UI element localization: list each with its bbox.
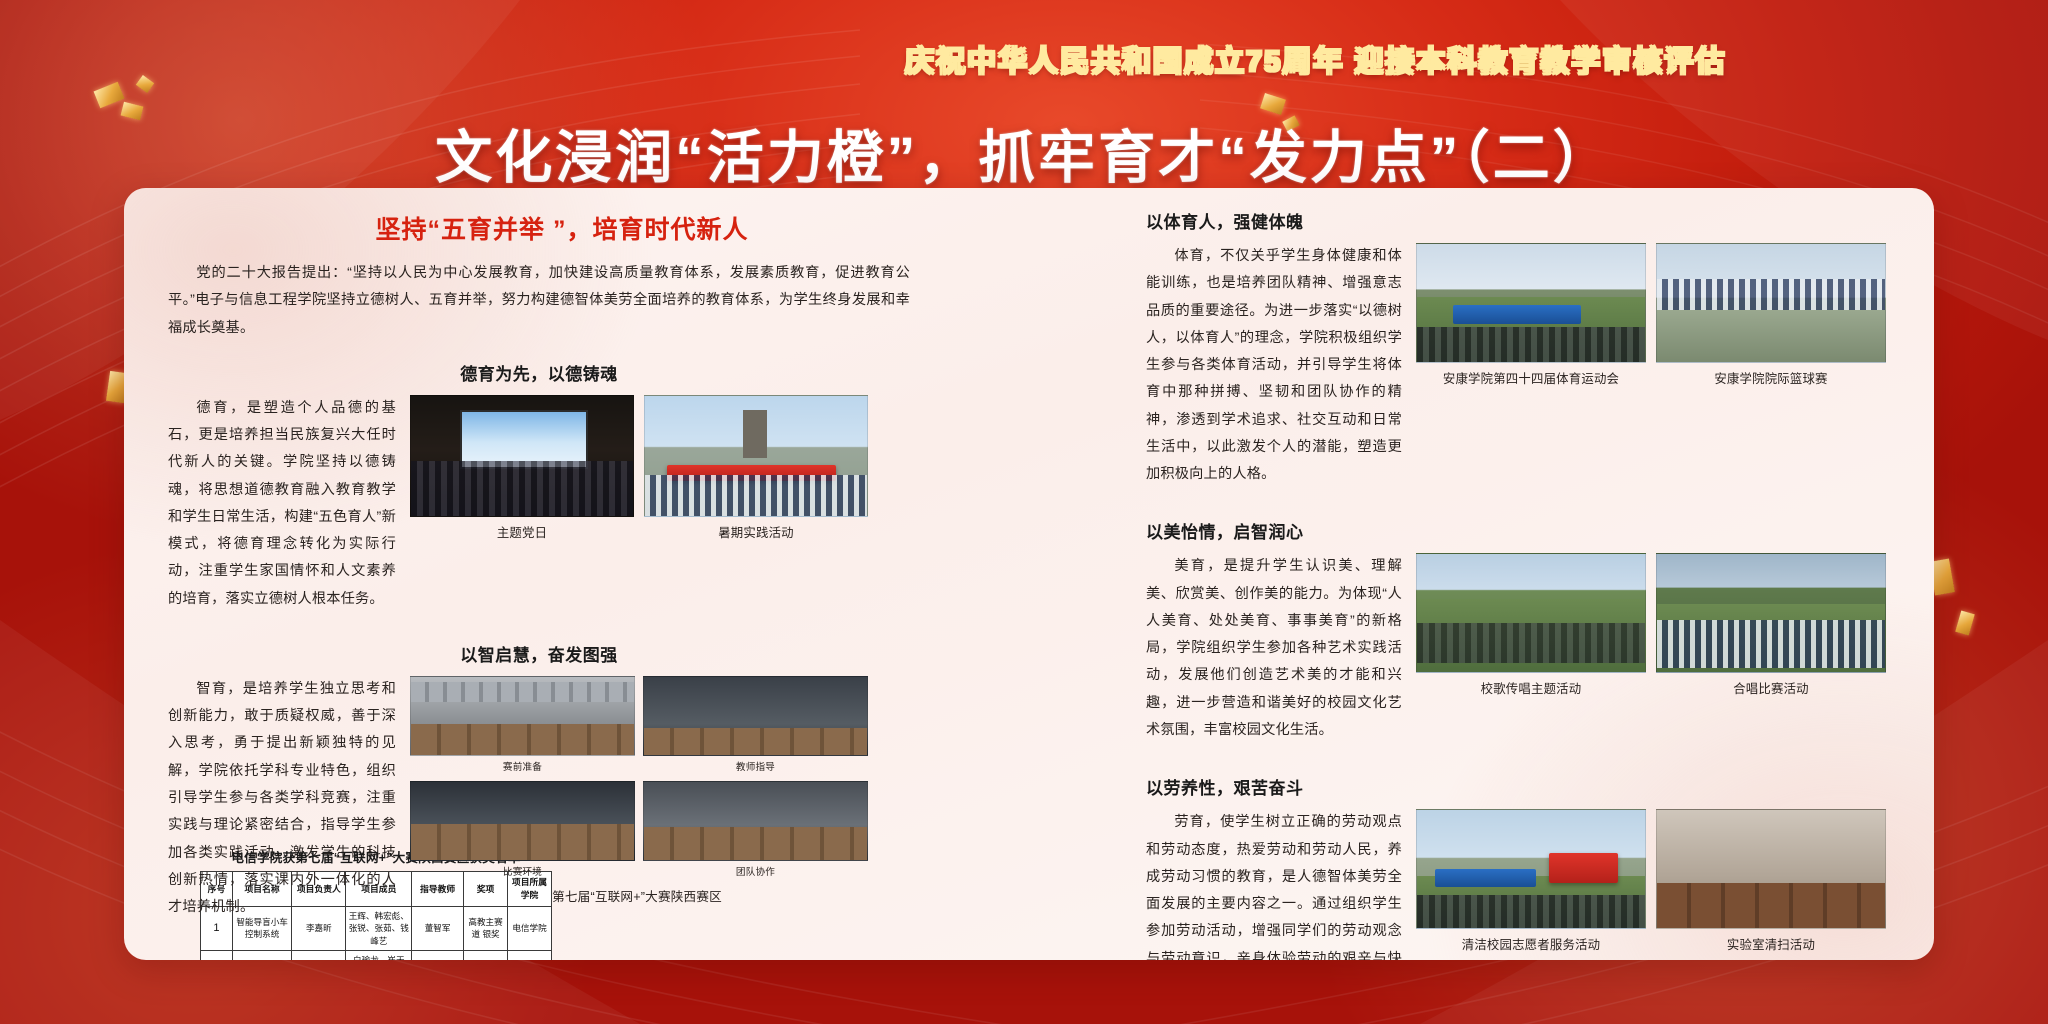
photo-team-collaboration <box>643 781 868 861</box>
cell-leader: 白瑜龙 <box>292 951 346 960</box>
content-card: 坚持“五育并举 ”，培育时代新人 党的二十大报告提出：“坚持以人民为中心发展教育… <box>124 188 1934 960</box>
labour-education-paragraph: 劳育，使学生树立正确的劳动观点和劳动态度，热爱劳动和劳动人民，养成劳动习惯的教育… <box>1146 809 1402 960</box>
cell-college: 电信学院 <box>508 951 552 960</box>
right-column: 以体育人，强健体魄 体育，不仅关乎学生身体健康和体能训练，也是培养团队精神、增强… <box>1146 204 1906 960</box>
caption-chorus-competition: 合唱比赛活动 <box>1656 679 1886 697</box>
caption-basketball-match: 安康学院院际篮球赛 <box>1656 369 1886 387</box>
cell-project-name: 基于姿态和语音控制的智能无线鼠标 <box>232 951 291 960</box>
cell-members: 王辉、韩宏彪、张锐、张茹、钱峰艺 <box>346 906 412 950</box>
aesthetic-education-paragraph: 美育，是提升学生认识美、理解美、欣赏美、创作美的能力。为体现“人人美育、处处美育… <box>1146 553 1402 744</box>
photo-pre-contest-prep <box>410 676 635 756</box>
moral-education-figures: 主题党日 暑期实践活动 <box>410 395 868 621</box>
caption-pre-contest-prep: 赛前准备 <box>410 759 635 773</box>
figure-pre-contest-prep: 赛前准备 <box>410 676 635 773</box>
figure-sports-meeting: 安康学院第四十四届体育运动会 <box>1416 243 1646 496</box>
photo-campus-cleaning-volunteers <box>1416 809 1646 929</box>
labour-education-heading: 以劳养性，艰苦奋斗 <box>1146 774 1906 799</box>
photo-basketball-match <box>1656 243 1886 363</box>
moral-education-heading: 德育为先，以德铸魂 <box>168 360 910 385</box>
caption-lab-cleaning: 实验室清扫活动 <box>1656 935 1886 953</box>
photo-theme-party-day <box>410 395 634 517</box>
photo-lab-cleaning <box>1656 809 1886 929</box>
page-title: 文化浸润“活力橙”，抓牢育才“发力点”（二） <box>0 112 2048 194</box>
left-column: 坚持“五育并举 ”，培育时代新人 党的二十大报告提出：“坚持以人民为中心发展教育… <box>162 204 962 960</box>
labour-education-figures: 清洁校园志愿者服务活动 实验室清扫活动 <box>1416 809 1886 960</box>
physical-education-figures: 安康学院第四十四届体育运动会 安康学院院际篮球赛 <box>1416 243 1886 496</box>
caption-anthem-singing: 校歌传唱主题活动 <box>1416 679 1646 697</box>
caption-team-collaboration: 团队协作 <box>643 864 868 878</box>
aesthetic-education-figures: 校歌传唱主题活动 合唱比赛活动 <box>1416 553 1886 752</box>
photo-sports-meeting <box>1416 243 1646 363</box>
physical-education-heading: 以体育人，强健体魄 <box>1146 208 1906 233</box>
left-intro-paragraph: 党的二十大报告提出：“坚持以人民为中心发展教育，加快建设高质量教育体系，发展素质… <box>168 260 910 342</box>
photo-contest-environment <box>410 781 635 861</box>
caption-teacher-guidance: 教师指导 <box>643 759 868 773</box>
cell-advisor: 邹圣霄、张东红 <box>412 951 464 960</box>
photo-summer-practice <box>644 395 868 517</box>
figure-anthem-singing: 校歌传唱主题活动 <box>1416 553 1646 752</box>
left-section-title: 坚持“五育并举 ”，培育时代新人 <box>162 210 962 246</box>
physical-education-paragraph: 体育，不仅关乎学生身体健康和体能训练，也是培养团队精神、增强意志品质的重要途径。… <box>1146 243 1402 488</box>
caption-theme-party-day: 主题党日 <box>410 523 634 541</box>
caption-sports-meeting: 安康学院第四十四届体育运动会 <box>1416 369 1646 387</box>
figure-team-collaboration: 团队协作 <box>643 781 868 878</box>
figure-basketball-match: 安康学院院际篮球赛 <box>1656 243 1886 496</box>
cell-members: 白瑜龙、崔天奇、侯彤、宋家豪、万玉芳、陈龙飞 <box>346 951 412 960</box>
table-row: 2 基于姿态和语音控制的智能无线鼠标 白瑜龙 白瑜龙、崔天奇、侯彤、宋家豪、万玉… <box>201 951 552 960</box>
photo-chorus-competition <box>1656 553 1886 673</box>
figure-teacher-guidance: 教师指导 <box>643 676 868 773</box>
figure-theme-party-day: 主题党日 <box>410 395 634 621</box>
poster-canvas: 庆祝中华人民共和国成立75周年 迎接本科教育教学审核评估 文化浸润“活力橙”，抓… <box>0 0 2048 1024</box>
anniversary-banner: 庆祝中华人民共和国成立75周年 迎接本科教育教学审核评估 <box>905 38 2005 80</box>
figure-chorus-competition: 合唱比赛活动 <box>1656 553 1886 752</box>
moral-education-paragraph: 德育，是塑造个人品德的基石，更是培养担当民族复兴大任时代新人的关键。学院坚持以德… <box>168 395 396 613</box>
cell-index: 2 <box>201 951 233 960</box>
aesthetic-education-heading: 以美怡情，启智润心 <box>1146 518 1906 543</box>
figure-summer-practice: 暑期实践活动 <box>644 395 868 621</box>
photo-teacher-guidance <box>643 676 868 756</box>
caption-summer-practice: 暑期实践活动 <box>644 523 868 541</box>
photo-anthem-singing <box>1416 553 1646 673</box>
figure-lab-cleaning: 实验室清扫活动 <box>1656 809 1886 960</box>
caption-campus-cleaning-volunteers: 清洁校园志愿者服务活动 <box>1416 935 1646 953</box>
figure-campus-cleaning-volunteers: 清洁校园志愿者服务活动 <box>1416 809 1646 960</box>
cell-award: 高教主赛道 铜奖 <box>464 951 508 960</box>
intellectual-education-heading: 以智启慧，奋发图强 <box>168 641 910 666</box>
